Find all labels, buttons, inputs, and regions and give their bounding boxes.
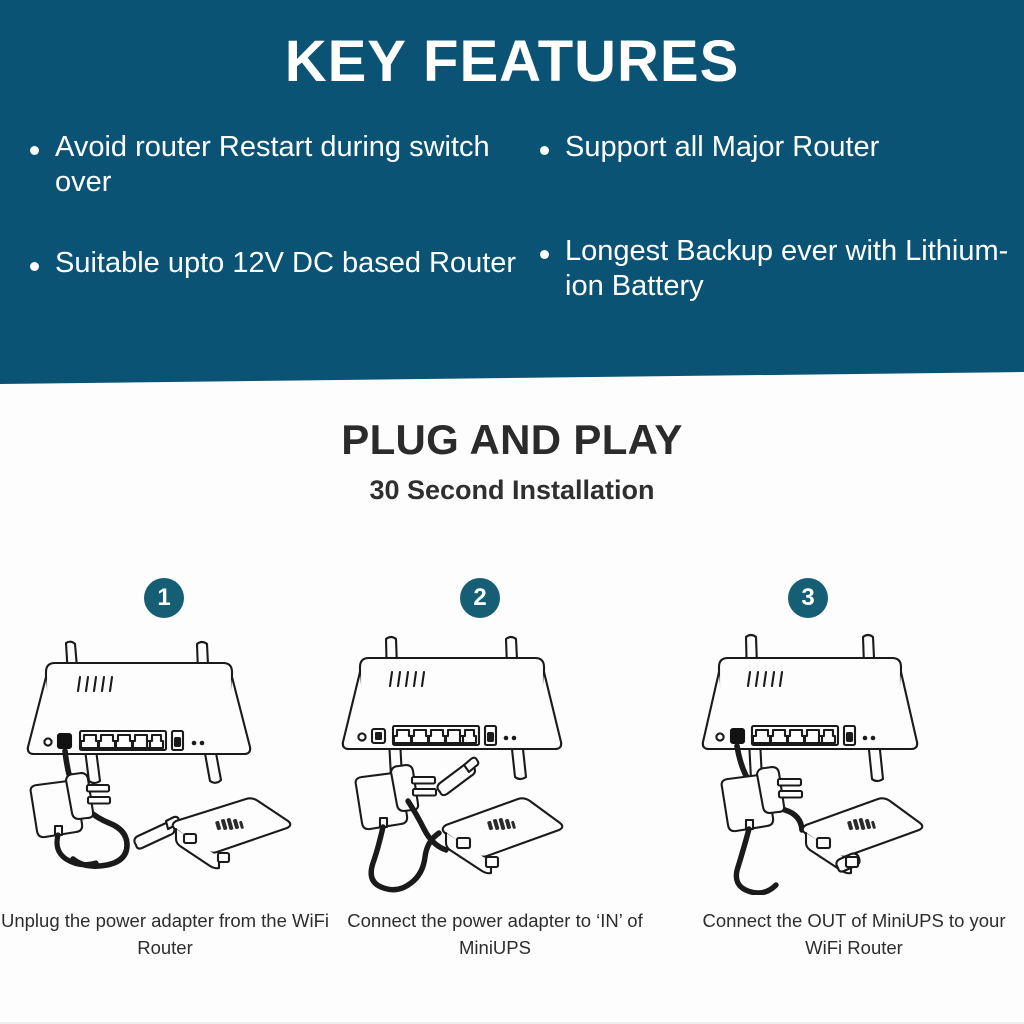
step-number-badge: 3 bbox=[788, 578, 828, 618]
miniups-out-to-router-diagram bbox=[686, 625, 1016, 895]
bullet-dot-icon bbox=[540, 146, 549, 155]
step-number-badge: 2 bbox=[460, 578, 500, 618]
feature-label: Suitable upto 12V DC based Router bbox=[55, 246, 516, 281]
feature-label: Longest Backup ever with Lithium-ion Bat… bbox=[565, 234, 1010, 305]
bullet-dot-icon bbox=[30, 262, 39, 271]
adapter-to-miniups-in-diagram bbox=[330, 625, 660, 895]
feature-item: Avoid router Restart during switch over bbox=[30, 130, 520, 201]
step-number-badge: 1 bbox=[144, 578, 184, 618]
bullet-dot-icon bbox=[30, 146, 39, 155]
step-caption: Connect the power adapter to ‘IN’ of Min… bbox=[330, 908, 660, 962]
step-item: 1 bbox=[0, 570, 330, 990]
page-title: KEY FEATURES bbox=[0, 32, 1024, 93]
step-caption: Connect the OUT of MiniUPS to your WiFi … bbox=[684, 908, 1024, 962]
feature-item: Support all Major Router bbox=[540, 130, 1010, 165]
feature-item: Longest Backup ever with Lithium-ion Bat… bbox=[540, 234, 1010, 305]
bullet-dot-icon bbox=[540, 250, 549, 259]
section-subtitle: 30 Second Installation bbox=[0, 475, 1024, 506]
key-features-infographic: KEY FEATURES Avoid router Restart during… bbox=[0, 0, 1024, 1024]
step-item: 2 bbox=[330, 570, 660, 990]
router-adapter-unplugged-diagram bbox=[0, 625, 330, 895]
step-caption: Unplug the power adapter from the WiFi R… bbox=[0, 908, 330, 962]
feature-list: Avoid router Restart during switch over … bbox=[0, 130, 1024, 360]
feature-label: Avoid router Restart during switch over bbox=[55, 130, 520, 201]
feature-item: Suitable upto 12V DC based Router bbox=[30, 246, 520, 281]
feature-label: Support all Major Router bbox=[565, 130, 879, 165]
step-item: 3 bbox=[676, 570, 1006, 990]
section-title: PLUG AND PLAY bbox=[0, 416, 1024, 464]
installation-steps: 1 bbox=[0, 570, 1024, 990]
